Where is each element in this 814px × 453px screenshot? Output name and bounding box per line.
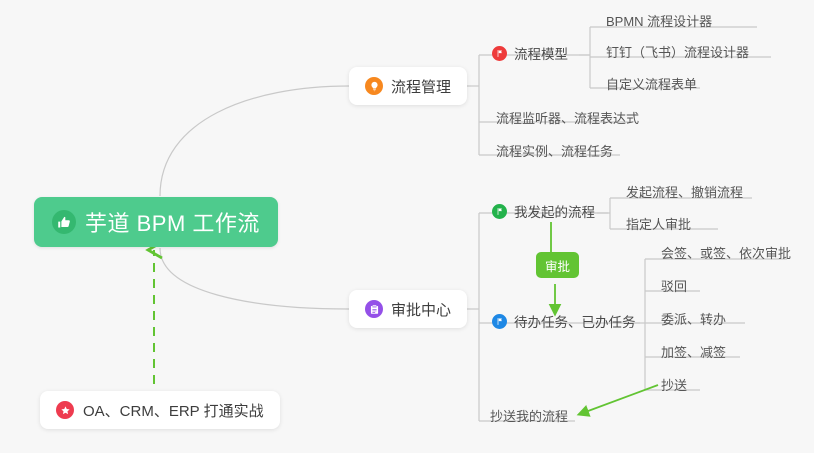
thumbs-up-icon [52, 210, 76, 234]
branch-label: 审批中心 [391, 299, 451, 320]
flag-icon [492, 314, 507, 329]
leaf-node[interactable]: 指定人审批 [620, 214, 697, 236]
subnode-label: 抄送我的流程 [490, 406, 568, 425]
leaf-label: 委派、转办 [661, 309, 726, 328]
branch-node-approval-center[interactable]: 审批中心 [349, 290, 467, 328]
branch-label: 流程管理 [391, 76, 451, 97]
leaf-node[interactable]: BPMN 流程设计器 [600, 11, 718, 33]
leaf-node[interactable]: 自定义流程表单 [600, 74, 703, 96]
subnode-label: 待办任务、已办任务 [514, 311, 636, 331]
annotation-arrow-cc [580, 385, 658, 414]
subnode-instances[interactable]: 流程实例、流程任务 [490, 141, 619, 163]
subnode-todo-done[interactable]: 待办任务、已办任务 [492, 311, 636, 334]
subnode-label: 流程模型 [514, 43, 568, 63]
subnode-listeners[interactable]: 流程监听器、流程表达式 [490, 108, 645, 130]
clipboard-icon [365, 300, 383, 318]
root-label: 芋道 BPM 工作流 [85, 206, 260, 238]
flag-icon [492, 46, 507, 61]
root-node[interactable]: 芋道 BPM 工作流 [34, 197, 278, 247]
leaf-node[interactable]: 会签、或签、依次审批 [655, 243, 797, 265]
subnode-label: 流程实例、流程任务 [496, 141, 613, 160]
subnode-label: 流程监听器、流程表达式 [496, 108, 639, 127]
mindmap-canvas: 芋道 BPM 工作流 流程管理 流程模型 BPMN 流程设计器 钉钉（飞书）流程… [0, 0, 814, 453]
subnode-process-model[interactable]: 流程模型 [492, 43, 568, 66]
leaf-node[interactable]: 委派、转办 [655, 309, 732, 331]
subnode-label: 我发起的流程 [514, 201, 595, 221]
leaf-node[interactable]: 钉钉（飞书）流程设计器 [600, 42, 755, 64]
leaf-label: BPMN 流程设计器 [606, 11, 712, 30]
leaf-node[interactable]: 驳回 [655, 276, 693, 298]
leaf-node[interactable]: 发起流程、撤销流程 [620, 182, 749, 204]
callout-label: OA、CRM、ERP 打通实战 [83, 400, 264, 421]
leaf-node[interactable]: 加签、减签 [655, 342, 732, 364]
leaf-label: 指定人审批 [626, 214, 691, 233]
leaf-label: 加签、减签 [661, 342, 726, 361]
subnode-cc-to-me[interactable]: 抄送我的流程 [484, 406, 574, 428]
subnode-my-initiated[interactable]: 我发起的流程 [492, 201, 595, 224]
leaf-label: 发起流程、撤销流程 [626, 182, 743, 201]
flag-icon [492, 204, 507, 219]
annotation-tag-label: 审批 [545, 256, 570, 275]
leaf-node[interactable]: 抄送 [655, 375, 693, 397]
leaf-label: 会签、或签、依次审批 [661, 243, 791, 262]
callout-integration-practice[interactable]: OA、CRM、ERP 打通实战 [40, 391, 280, 429]
star-icon [56, 401, 74, 419]
branch-node-process-management[interactable]: 流程管理 [349, 67, 467, 105]
lightbulb-icon [365, 77, 383, 95]
leaf-label: 驳回 [661, 276, 687, 295]
leaf-label: 自定义流程表单 [606, 74, 697, 93]
annotation-tag-approval: 审批 [536, 252, 579, 278]
leaf-label: 抄送 [661, 375, 687, 394]
leaf-label: 钉钉（飞书）流程设计器 [606, 42, 749, 61]
